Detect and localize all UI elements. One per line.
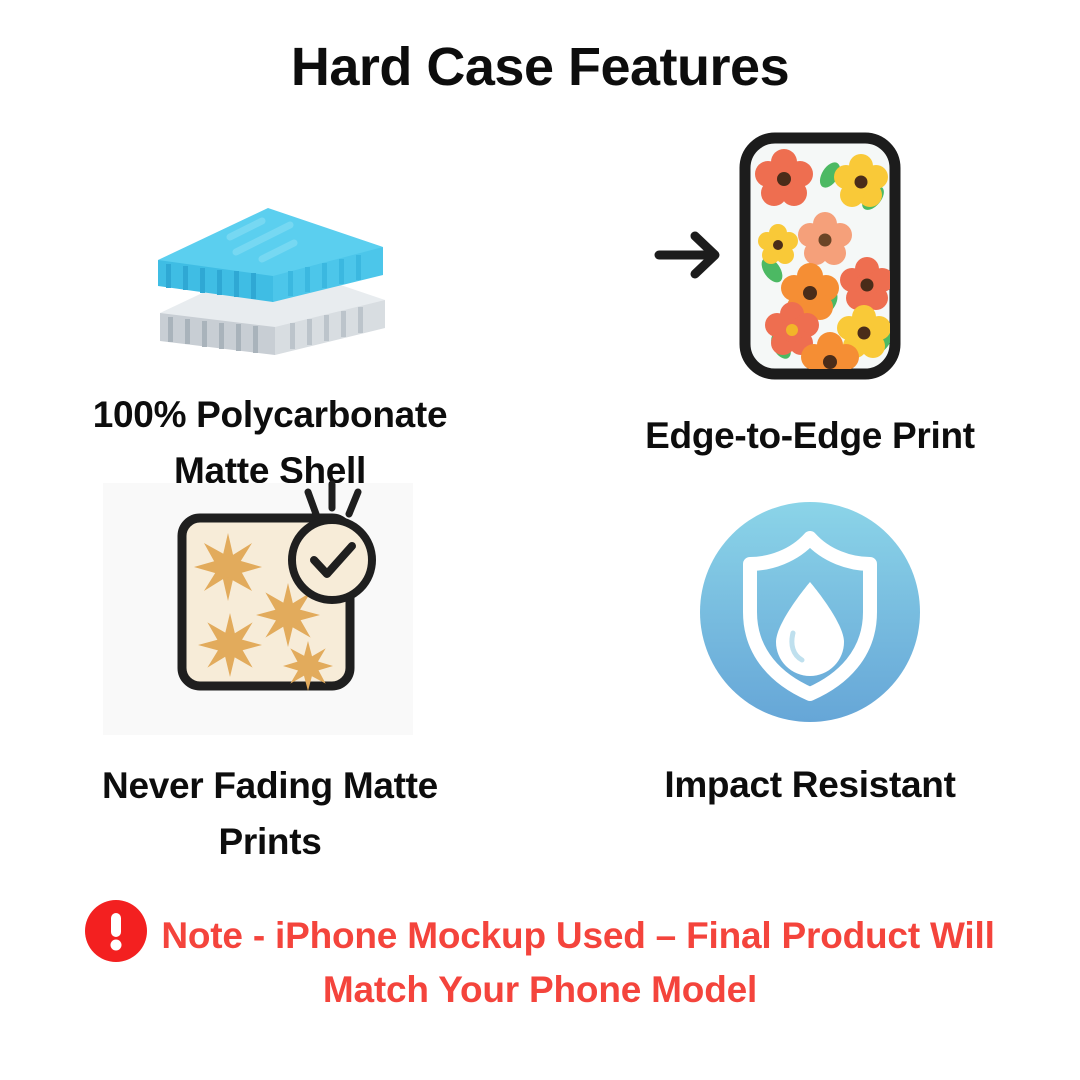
sparkle-square-check-icon — [120, 470, 420, 740]
shine-rays — [308, 484, 358, 514]
feature-impact: Impact Resistant — [560, 500, 1060, 813]
phone-case-floral-print-icon — [645, 130, 975, 380]
feature-edge-print: Edge-to-Edge Print — [560, 130, 1060, 464]
shield-droplet-icon — [698, 500, 923, 725]
infographic-page: Hard Case Features — [0, 0, 1080, 1080]
feature-label-line-1: Never Fading Matte — [102, 765, 438, 806]
feature-label-never-fading: Never Fading Matte Prints — [20, 758, 520, 869]
note-row: Note - iPhone Mockup Used – Final Produc… — [0, 900, 1080, 1016]
feature-never-fading: Never Fading Matte Prints — [20, 470, 520, 869]
exclamation-circle-icon — [85, 900, 147, 962]
feature-polycarbonate: 100% Polycarbonate Matte Shell — [20, 165, 520, 498]
feature-label-line-2: Prints — [218, 821, 321, 862]
check-badge-icon — [292, 520, 372, 600]
arrow-icon — [659, 236, 715, 274]
note-text: Note - iPhone Mockup Used – Final Produc… — [161, 915, 994, 1010]
feature-label-line-1: Impact Resistant — [664, 764, 955, 805]
feature-label-edge-print: Edge-to-Edge Print — [560, 408, 1060, 464]
layered-slabs-icon — [140, 165, 400, 365]
feature-label-impact: Impact Resistant — [560, 757, 1060, 813]
feature-label-line-1: 100% Polycarbonate — [93, 394, 447, 435]
page-title: Hard Case Features — [0, 36, 1080, 98]
feature-label-line-1: Edge-to-Edge Print — [645, 415, 975, 456]
